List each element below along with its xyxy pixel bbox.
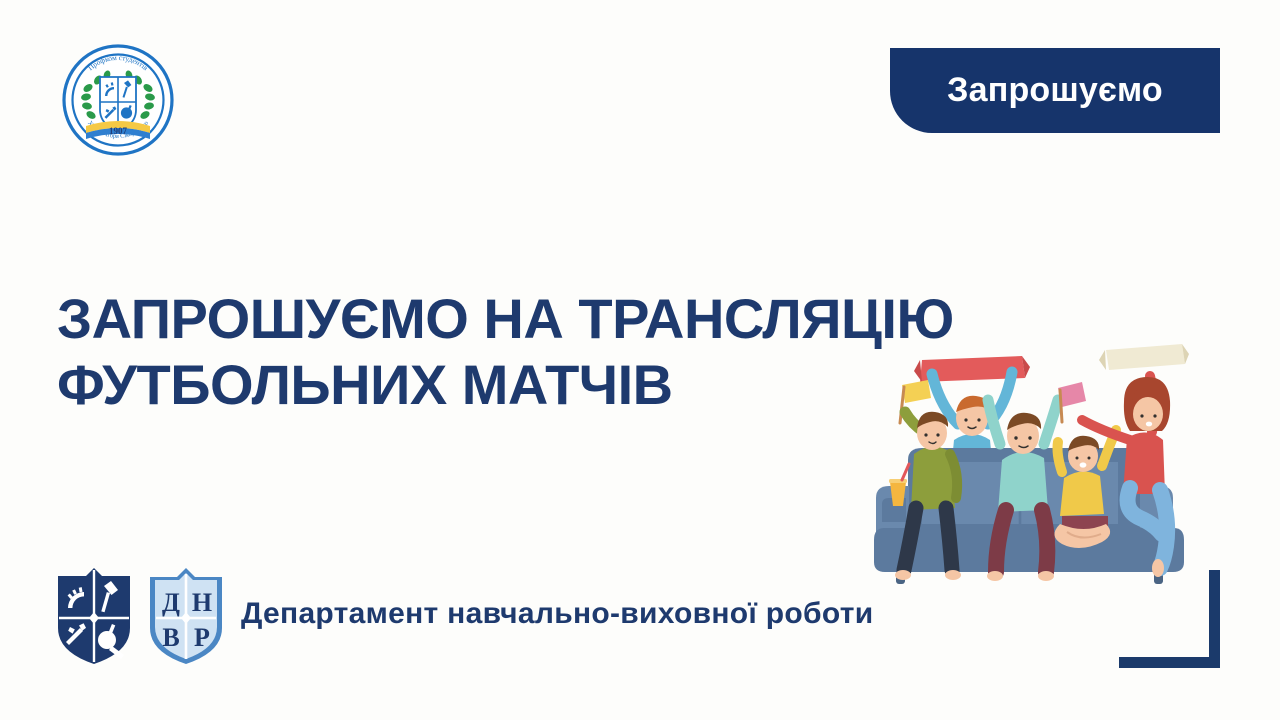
poster-canvas: Профком студентів ХПІ ім. Ігоря Сікорськ… xyxy=(0,0,1280,720)
corner-bracket-vertical xyxy=(1209,570,1220,668)
footer-logos: Д Н В Р xyxy=(56,566,226,671)
invitation-badge-label: Запрошуємо xyxy=(947,73,1163,109)
football-fans-illustration xyxy=(862,332,1202,600)
dnvr-shield-logo: Д Н В Р xyxy=(146,566,226,671)
invitation-badge: Запрошуємо xyxy=(890,48,1220,133)
profkom-emblem: Профком студентів ХПІ ім. Ігоря Сікорськ… xyxy=(62,44,174,156)
footer-department-label: Департамент навчально-виховної роботи xyxy=(241,597,874,631)
headline-line-1: ЗАПРОШУЄМО НА ТРАНСЛЯЦІЮ xyxy=(57,287,954,350)
svg-text:1907: 1907 xyxy=(109,126,128,136)
corner-bracket-horizontal xyxy=(1119,657,1220,668)
khpi-shield-logo xyxy=(56,566,132,671)
corner-bracket-decoration xyxy=(1119,570,1220,668)
dnvr-letter-r: Р xyxy=(194,623,210,652)
dnvr-letter-v: В xyxy=(162,623,179,652)
dnvr-letter-n: Н xyxy=(192,588,212,617)
dnvr-letter-d: Д xyxy=(162,588,180,617)
